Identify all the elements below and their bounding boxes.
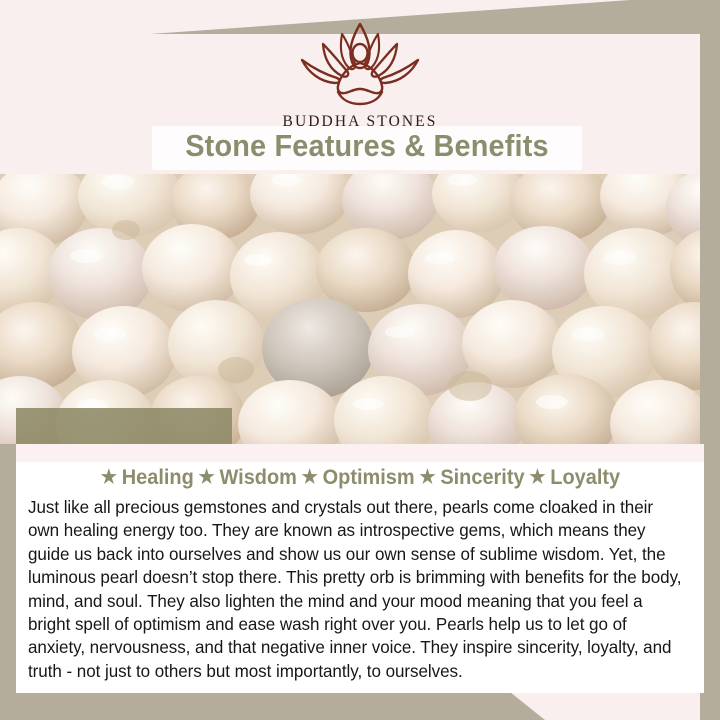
benefit-sincerity: Sincerity [438,466,526,489]
brand-logo: BUDDHA STONES [0,20,720,131]
stone-name-bar [16,408,232,444]
header: BUDDHA STONES Stone Features & Benefits [0,0,720,174]
star-icon-5: ★ [527,467,549,488]
decorative-band-left [0,444,16,720]
benefit-healing: Healing [120,466,196,489]
decorative-band-bottom [0,692,720,720]
description-paragraph: Just like all precious gemstones and cry… [28,496,682,683]
lotus-meditation-icon [0,20,720,111]
benefit-loyalty: Loyalty [548,466,622,489]
panel-top-tint [16,444,704,462]
star-icon-4: ★ [417,467,439,488]
benefits-list: ★Healing★Wisdom★Optimism★Sincerity★Loyal… [33,466,687,490]
infographic-card: BUDDHA STONES Stone Features & Benefits [0,0,720,720]
benefit-optimism: Optimism [321,466,417,489]
benefit-wisdom: Wisdom [218,466,299,489]
star-icon-2: ★ [196,467,218,488]
star-icon-3: ★ [299,467,321,488]
content-panel: ★Healing★Wisdom★Optimism★Sincerity★Loyal… [16,444,704,693]
pearl-photo [0,174,720,444]
page-title: Stone Features & Benefits [167,128,567,164]
star-icon-1: ★ [98,467,120,488]
